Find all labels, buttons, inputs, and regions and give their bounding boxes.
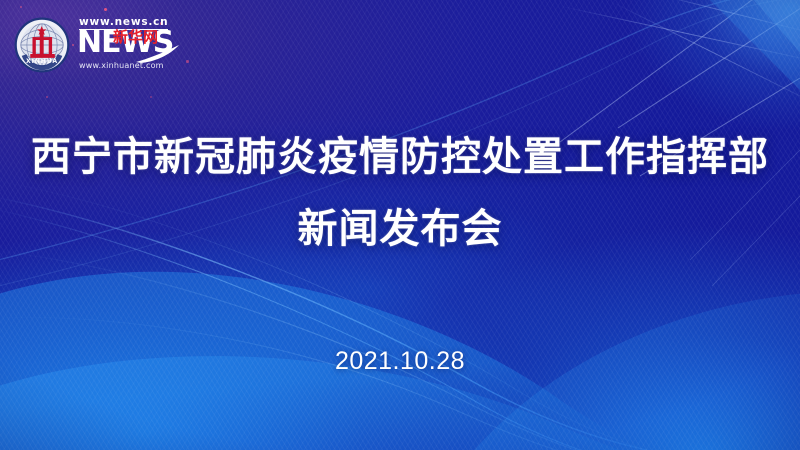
svg-text:XINHUA: XINHUA bbox=[26, 58, 58, 65]
xinhua-logo[interactable]: XINHUA www.news.cn NEWS 新华网 www.xinhuane… bbox=[14, 16, 181, 74]
title-line-1: 西宁市新冠肺炎疫情防控处置工作指挥部 bbox=[0, 126, 800, 188]
title-line-2: 新闻发布会 bbox=[0, 198, 800, 260]
event-date: 2021.10.28 bbox=[0, 347, 800, 376]
headline-block: 西宁市新冠肺炎疫情防控处置工作指挥部 新闻发布会 bbox=[0, 126, 800, 260]
logo-url-bottom: www.xinhuanet.com bbox=[79, 61, 164, 70]
xinhua-emblem-icon: XINHUA bbox=[14, 17, 70, 73]
xinhua-wordmark: www.news.cn NEWS 新华网 www.xinhuanet.com bbox=[77, 16, 181, 74]
news-conference-banner: XINHUA www.news.cn NEWS 新华网 www.xinhuane… bbox=[0, 0, 800, 450]
logo-chinese-text: 新华网 bbox=[113, 30, 158, 45]
